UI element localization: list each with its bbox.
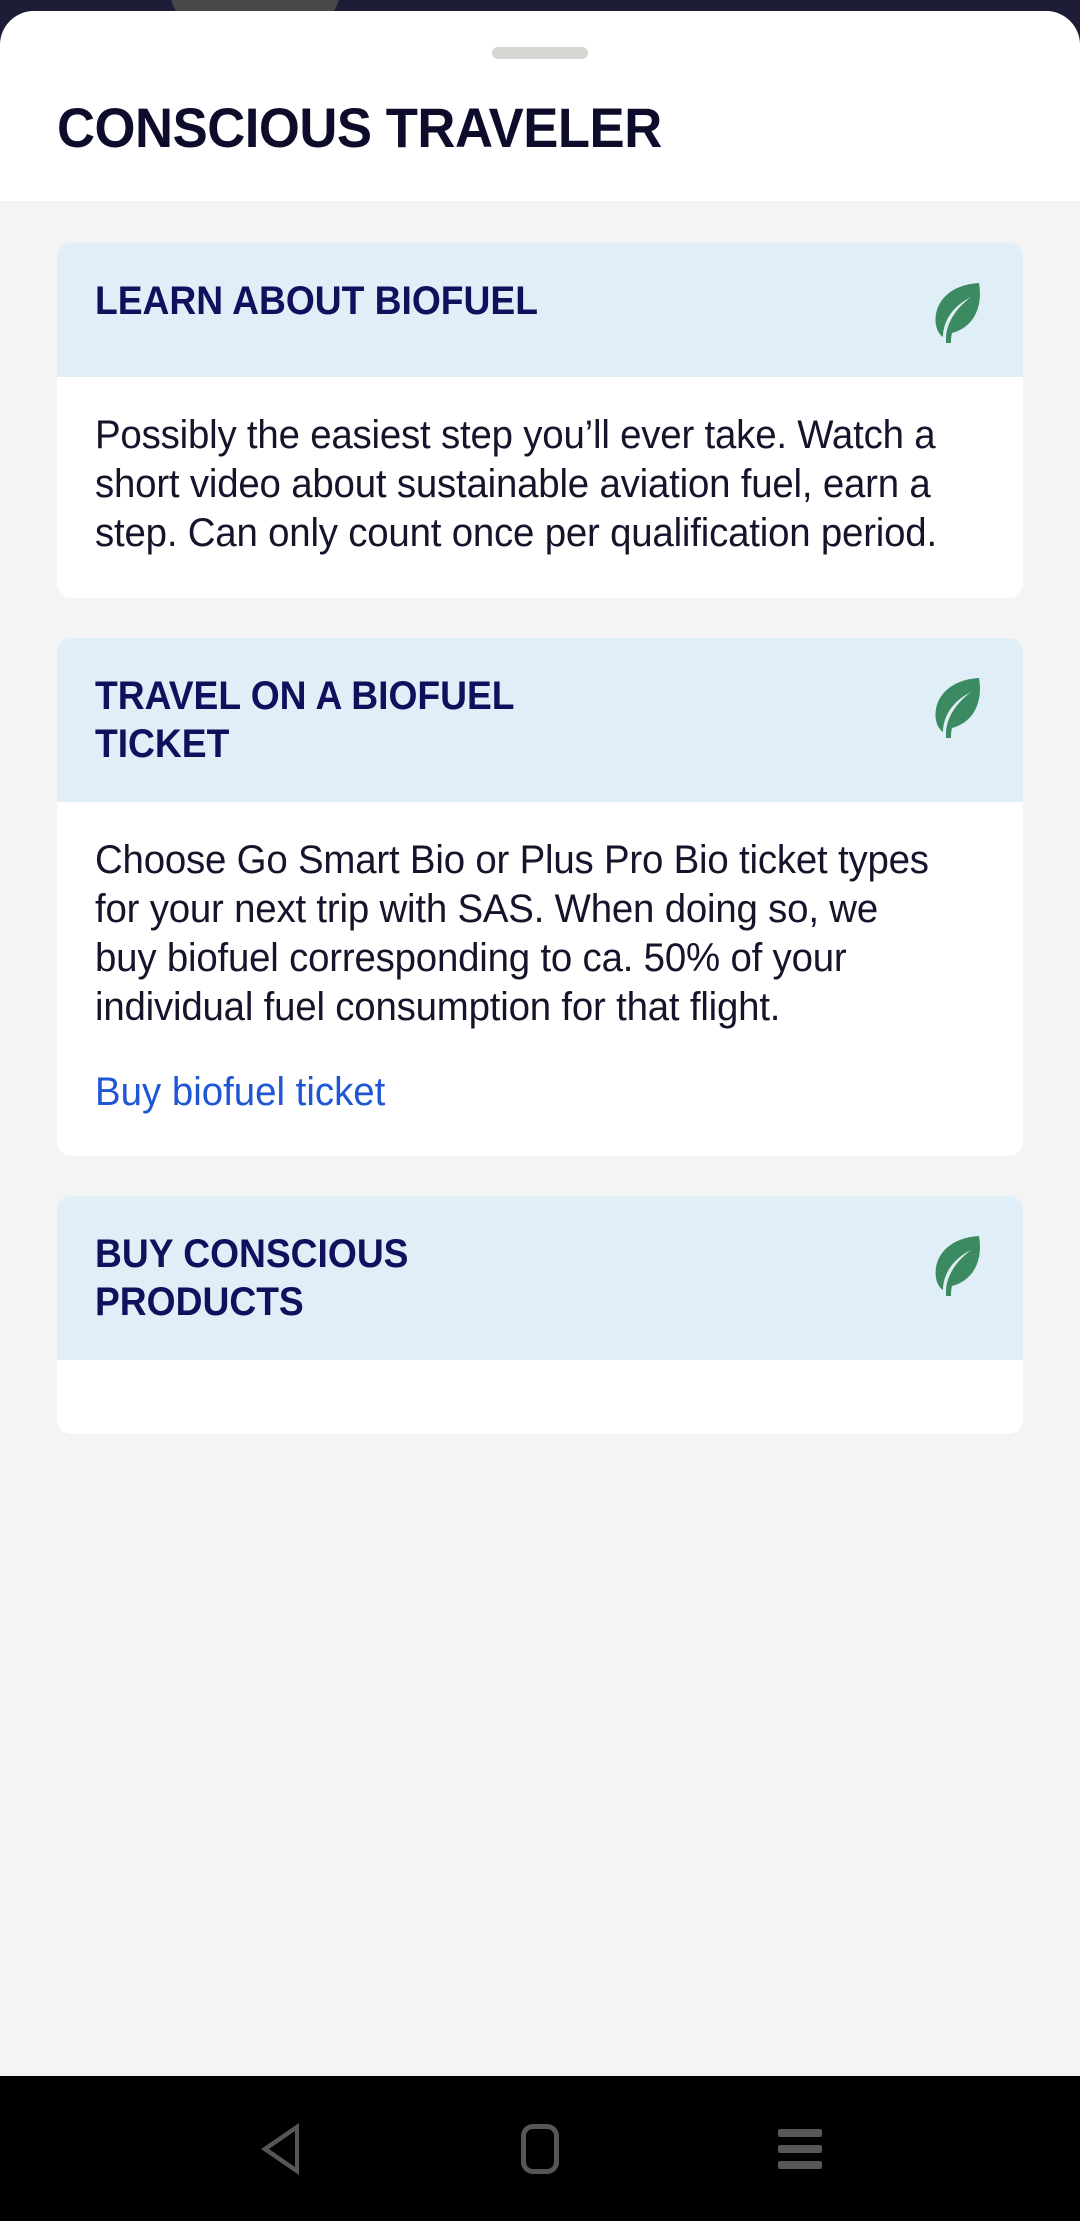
card-description: Possibly the easiest step you’ll ever ta… xyxy=(95,411,949,558)
leaf-icon xyxy=(927,1232,985,1296)
drag-handle[interactable] xyxy=(492,47,588,59)
card-title: LEARN ABOUT BIOFUEL xyxy=(95,277,538,325)
page-title: CONSCIOUS TRAVELER xyxy=(57,95,662,161)
home-button[interactable] xyxy=(480,2089,600,2209)
card-description: Choose Go Smart Bio or Plus Pro Bio tick… xyxy=(95,836,949,1032)
sheet-header: CONSCIOUS TRAVELER xyxy=(0,11,1080,201)
android-navigation-bar xyxy=(0,2076,1080,2221)
buy-biofuel-ticket-link[interactable]: Buy biofuel ticket xyxy=(95,1068,385,1116)
card-body xyxy=(57,1360,1023,1434)
card-title: BUY CONSCIOUS PRODUCTS xyxy=(95,1230,616,1326)
bottom-sheet: CONSCIOUS TRAVELER LEARN ABOUT BIOFUEL P… xyxy=(0,11,1080,2221)
card-header: LEARN ABOUT BIOFUEL xyxy=(57,243,1023,377)
card-title: TRAVEL ON A BIOFUEL TICKET xyxy=(95,672,616,768)
card-header: TRAVEL ON A BIOFUEL TICKET xyxy=(57,638,1023,802)
leaf-icon xyxy=(927,279,985,343)
phone-screen: CONSCIOUS TRAVELER LEARN ABOUT BIOFUEL P… xyxy=(0,0,1080,2221)
home-icon xyxy=(521,2124,559,2174)
card-travel-on-a-biofuel-ticket[interactable]: TRAVEL ON A BIOFUEL TICKET Choose Go Sma… xyxy=(57,638,1023,1156)
card-body: Choose Go Smart Bio or Plus Pro Bio tick… xyxy=(57,802,1023,1156)
recents-icon xyxy=(778,2129,822,2169)
card-body: Possibly the easiest step you’ll ever ta… xyxy=(57,377,1023,598)
sheet-content: LEARN ABOUT BIOFUEL Possibly the easiest… xyxy=(0,201,1080,2221)
back-icon xyxy=(261,2123,299,2175)
card-header: BUY CONSCIOUS PRODUCTS xyxy=(57,1196,1023,1360)
recents-button[interactable] xyxy=(740,2089,860,2209)
leaf-icon xyxy=(927,674,985,738)
back-button[interactable] xyxy=(220,2089,340,2209)
card-learn-about-biofuel[interactable]: LEARN ABOUT BIOFUEL Possibly the easiest… xyxy=(57,243,1023,598)
card-buy-conscious-products[interactable]: BUY CONSCIOUS PRODUCTS xyxy=(57,1196,1023,1434)
